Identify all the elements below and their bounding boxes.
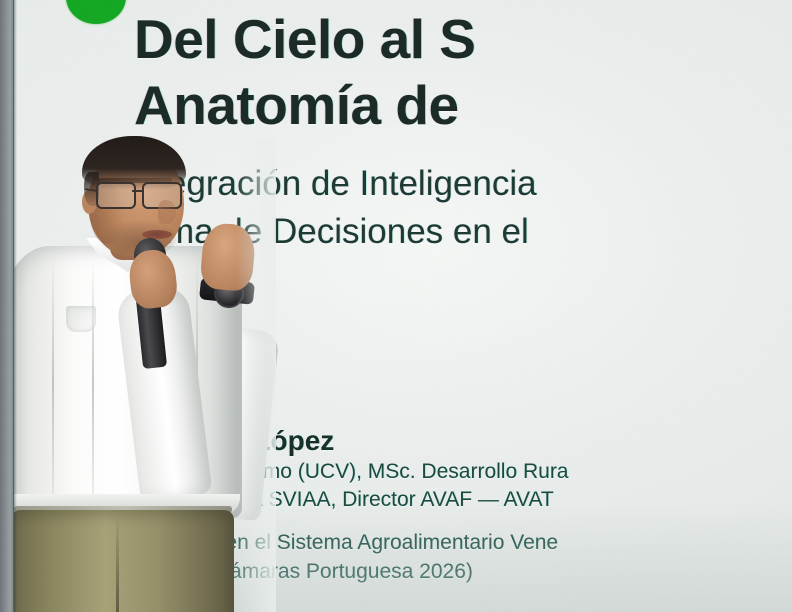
shirt-pleat — [92, 258, 94, 508]
presenter-raised-hand — [199, 222, 257, 292]
eyeglass-lens-left — [96, 182, 136, 209]
presenter-nose — [158, 200, 176, 224]
presentation-photo-scene: Del Cielo al S Anatomía de Integración d… — [0, 0, 792, 612]
screen-left-edge — [13, 0, 17, 612]
presenter-trousers — [12, 510, 234, 612]
shirt-pocket — [66, 306, 96, 332]
trouser-seam — [116, 516, 119, 612]
stage-curtain — [0, 0, 14, 612]
shirt-pleat — [52, 258, 54, 508]
eyeglass-bridge — [132, 190, 144, 192]
presenter-figure — [0, 138, 270, 612]
